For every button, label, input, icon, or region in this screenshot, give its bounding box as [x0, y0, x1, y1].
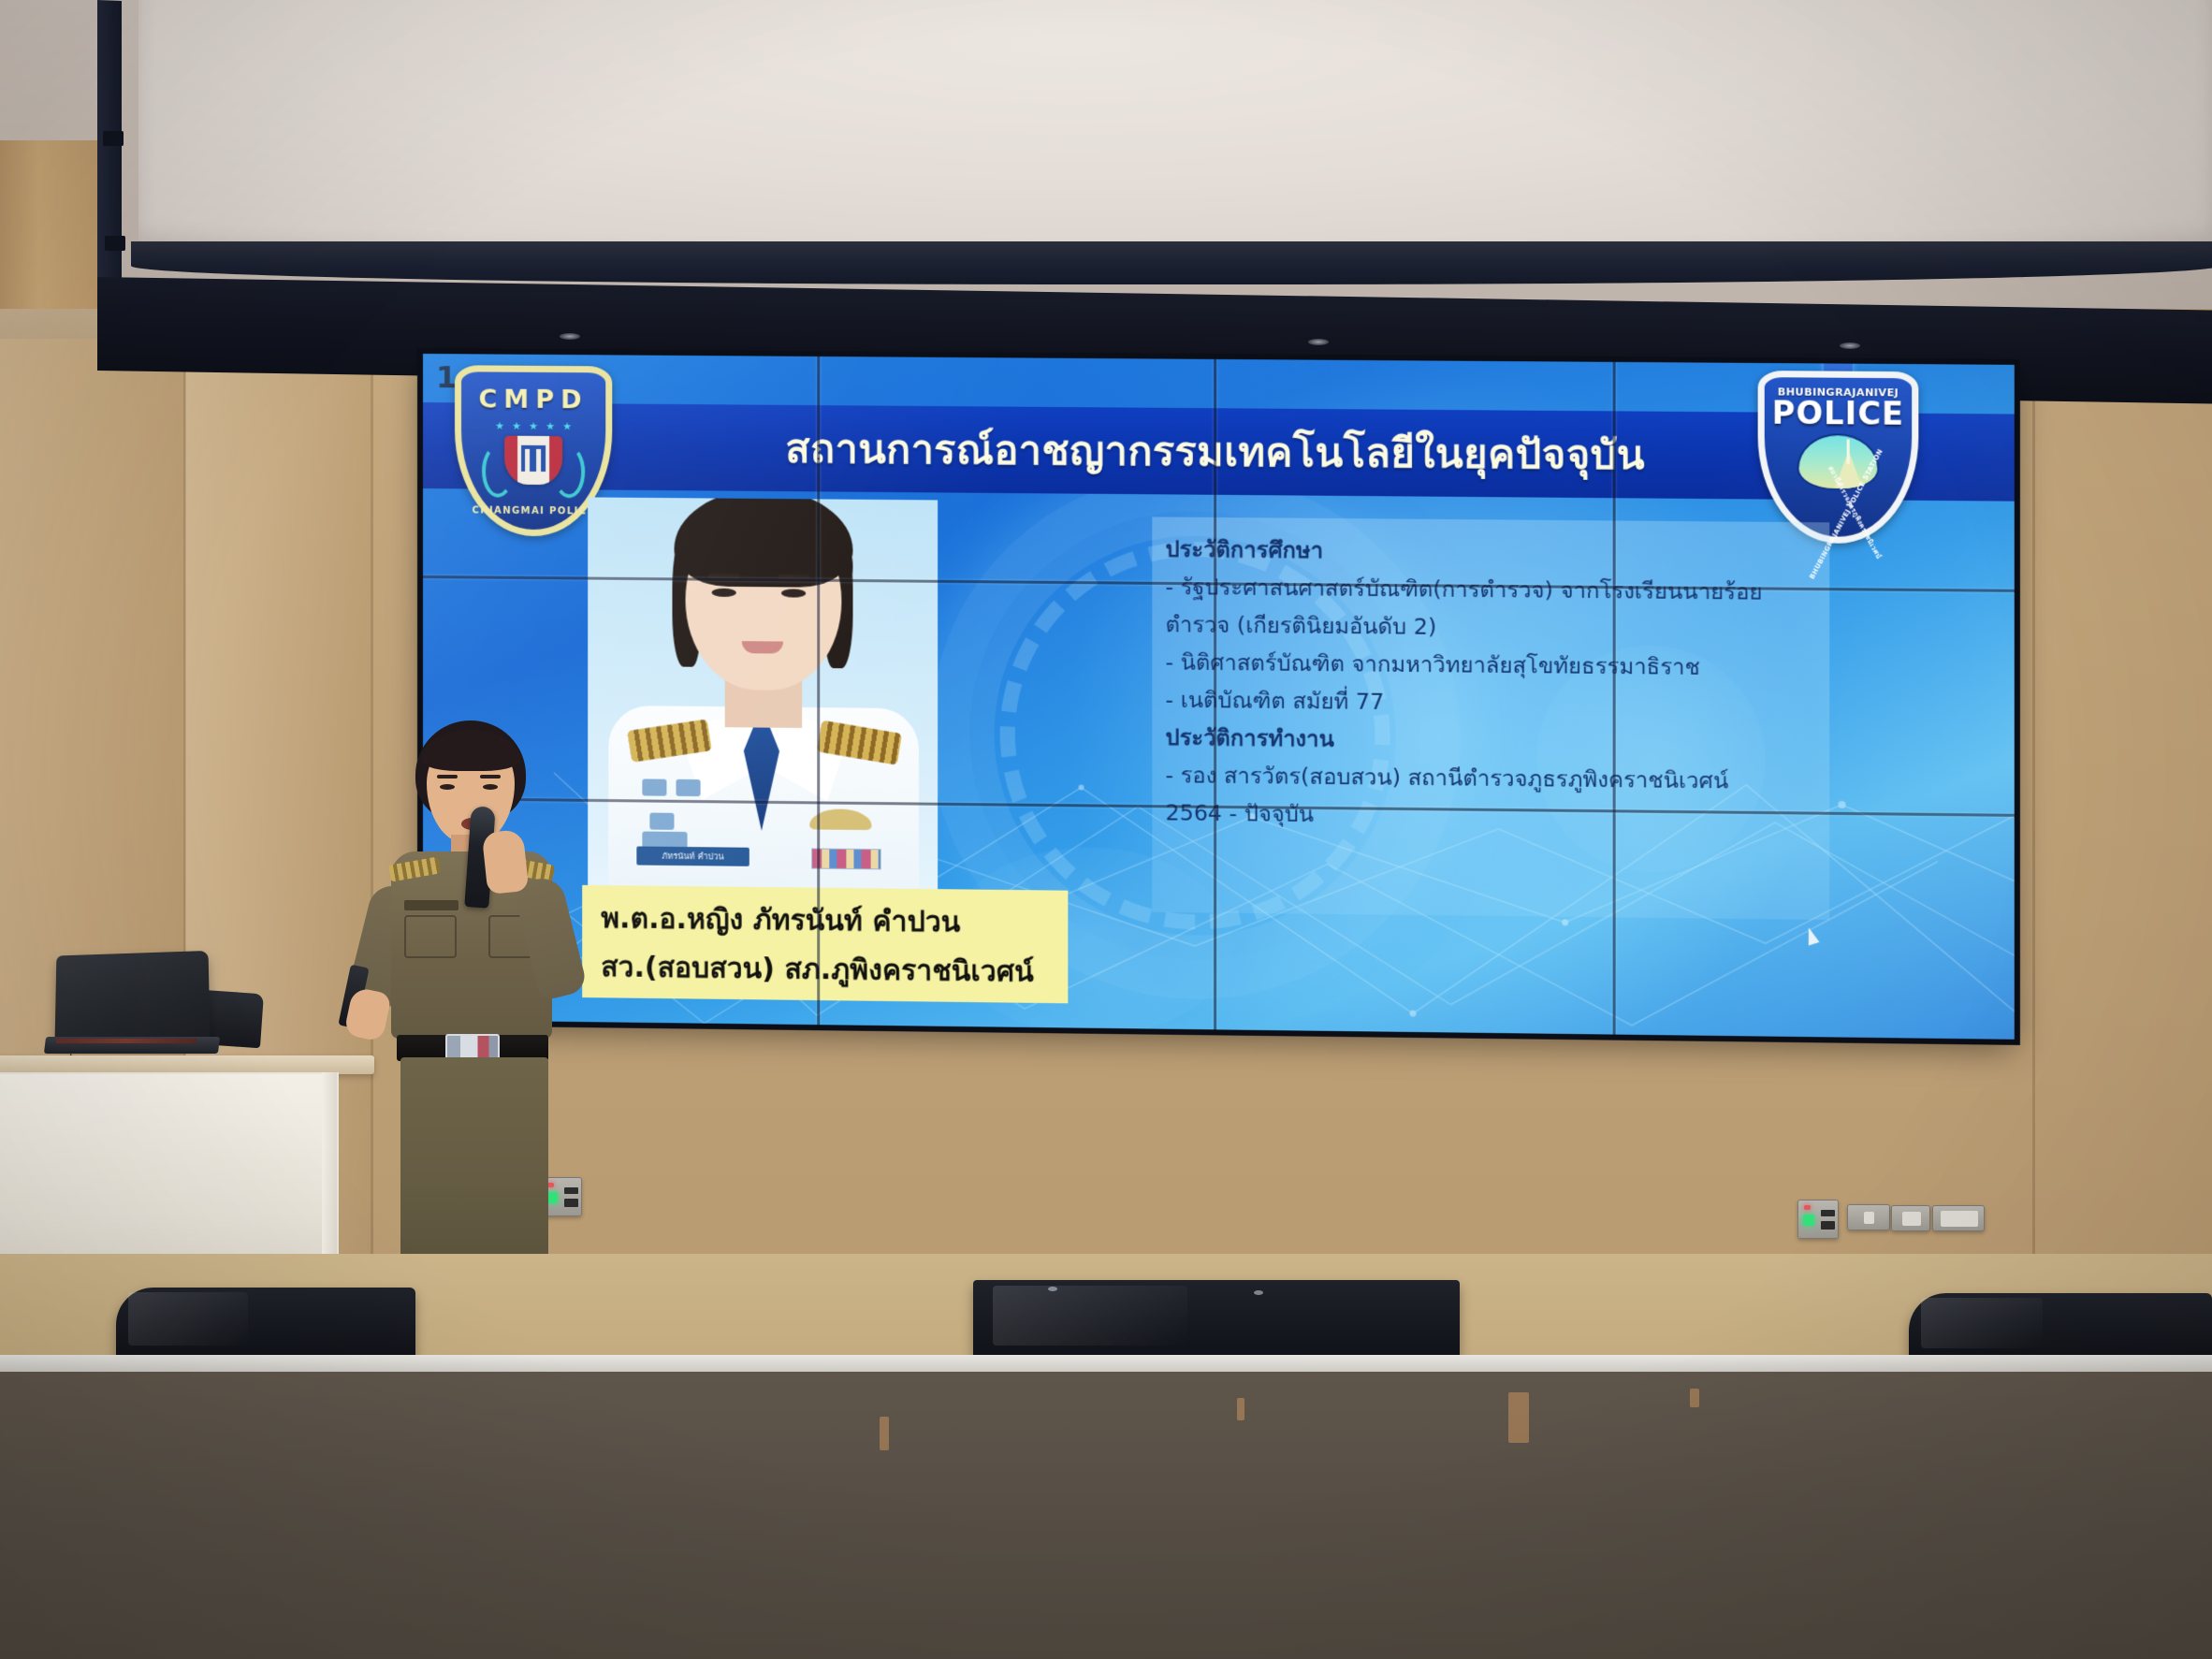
- portrait-ribbon-bar: [811, 849, 880, 870]
- info-education-line-4: - เนติบัณฑิต สมัยที่ 77: [1165, 681, 1813, 725]
- presentation-slide: สถานการณ์อาชญากรรมเทคโนโลยีในยุคปัจจุบัน…: [423, 354, 2015, 1040]
- center-stage-monitor: [973, 1280, 1460, 1366]
- rj45-jack[interactable]: [1864, 1212, 1874, 1224]
- monitor-glare: [1921, 1298, 2043, 1349]
- projection-screen: [138, 0, 2212, 299]
- stage-scuff-mark: [1508, 1392, 1529, 1443]
- cmpd-subtitle: CHIANGMAI POLICE: [461, 505, 605, 517]
- officer-portrait-photo: ภัทรนันท์ คำปวน: [588, 497, 938, 941]
- wall-panel-seam: [2032, 309, 2035, 1310]
- monitor-indicator: [1254, 1290, 1263, 1295]
- cmpd-acronym: CMPD: [479, 385, 589, 415]
- bhubingrajanivej-badge: BHUBINGRAJANIVEJ POLICE BHUBINGRAJANIVEJ…: [1758, 371, 1919, 544]
- presenter-eye-right: [483, 784, 498, 790]
- laurel-left-icon: [482, 444, 514, 497]
- presenter-brow-right: [480, 775, 501, 779]
- info-heading-work: ประวัติการทำงาน: [1165, 719, 1813, 763]
- info-education-line-2: ตำรวจ (เกียรตินิยมอันดับ 2): [1165, 605, 1813, 649]
- presenter-desk-panel: [0, 1072, 339, 1283]
- video-wall-bezel-vertical: [1214, 359, 1216, 1029]
- info-work-line-2: 2564 - ปัจจุบัน: [1165, 793, 1813, 838]
- presenter-officer: [342, 720, 623, 1329]
- info-education-line-3: - นิติศาสตร์บัณฑิต จากมหาวิทยาลัยสุโขทัย…: [1165, 643, 1813, 687]
- projection-screen-fabric: [138, 0, 2212, 264]
- left-stage-monitor: [116, 1288, 415, 1364]
- presenter-pocket-left: [404, 915, 457, 958]
- officer-name-caption: พ.ต.อ.หญิง ภัทรนันท์ คำปวน สว.(สอบสวน) ส…: [582, 885, 1068, 1003]
- presenter-eye-left: [440, 784, 455, 790]
- av-control-plate-right[interactable]: [1797, 1200, 1839, 1239]
- presenter-desk-top: [0, 1055, 374, 1074]
- portrait-eye-right: [781, 589, 806, 597]
- info-work-line-1: - รอง สารวัตร(สอบสวน) สถานีตำรวจภูธรภูพิ…: [1165, 756, 1813, 800]
- power-outlet-plate-single[interactable]: [1891, 1205, 1930, 1231]
- hdmi-port[interactable]: [1821, 1210, 1835, 1216]
- power-outlet-plate-double[interactable]: [1932, 1205, 1985, 1231]
- downlight: [1840, 342, 1860, 349]
- bhubing-word: POLICE: [1772, 398, 1904, 429]
- auditorium-scene: สถานการณ์อาชญากรรมเทคโนโลยีในยุคปัจจุบัน…: [0, 0, 2212, 1659]
- laurel-right-icon: [553, 445, 585, 498]
- monitor-glare: [993, 1286, 1187, 1346]
- downlight: [560, 333, 580, 340]
- monitor-indicator: [1048, 1287, 1057, 1291]
- portrait-medal: [642, 779, 666, 795]
- laptop-screen[interactable]: [55, 951, 211, 1042]
- stage-scuff-mark: [1237, 1398, 1244, 1420]
- portrait-name-plate: ภัทรนันท์ คำปวน: [636, 846, 749, 866]
- downlight: [1308, 339, 1329, 345]
- officer-info-panel: ประวัติการศึกษา - รัฐประศาสนศาสตร์บัณฑิต…: [1152, 517, 1829, 920]
- power-socket[interactable]: [1902, 1212, 1921, 1226]
- caption-officer-name: พ.ต.อ.หญิง ภัทรนันท์ คำปวน: [601, 895, 1068, 949]
- portrait-medal: [649, 813, 674, 830]
- data-jack-plate-right[interactable]: [1847, 1204, 1890, 1230]
- portrait-eye-left: [712, 589, 736, 597]
- lcd-video-wall[interactable]: สถานการณ์อาชญากรรมเทคโนโลยีในยุคปัจจุบัน…: [423, 354, 2015, 1040]
- stage-front-face: [0, 1372, 2212, 1659]
- laptop-hinge-strip: [56, 1039, 196, 1043]
- presenter-brow-left: [437, 775, 458, 779]
- status-led-red: [1804, 1205, 1811, 1210]
- portrait-mouth: [742, 641, 783, 653]
- portrait-fringe: [674, 497, 852, 588]
- stage-scuff-mark: [1690, 1389, 1699, 1407]
- slide-index-number: 1: [436, 359, 457, 395]
- screen-clip: [105, 236, 125, 251]
- stage-scuff-mark: [880, 1417, 889, 1450]
- bhubing-shield-icon: BHUBINGRAJANIVEJ POLICE BHUBINGRAJANIVEJ…: [1758, 371, 1919, 544]
- video-wall-bezel-vertical: [1613, 362, 1616, 1035]
- video-wall-bezel-vertical: [817, 357, 820, 1025]
- projection-screen-weight-bar: [131, 241, 2212, 284]
- presenter-skirt: [400, 1057, 548, 1261]
- presenter-right-hand: [482, 829, 530, 895]
- screen-clip: [103, 131, 124, 146]
- presenter-name-tag: [404, 900, 458, 910]
- vga-port[interactable]: [1821, 1221, 1835, 1230]
- status-led-green: [1803, 1215, 1814, 1226]
- cmpd-stars-icon: [496, 422, 572, 431]
- caption-officer-position: สว.(สอบสวน) สภ.ภูพิงคราชนิเวศน์: [601, 943, 1068, 997]
- info-heading-education: ประวัติการศึกษา: [1165, 531, 1813, 574]
- power-socket-double[interactable]: [1941, 1211, 1978, 1227]
- portrait-medal: [676, 779, 700, 796]
- monitor-glare: [128, 1292, 248, 1346]
